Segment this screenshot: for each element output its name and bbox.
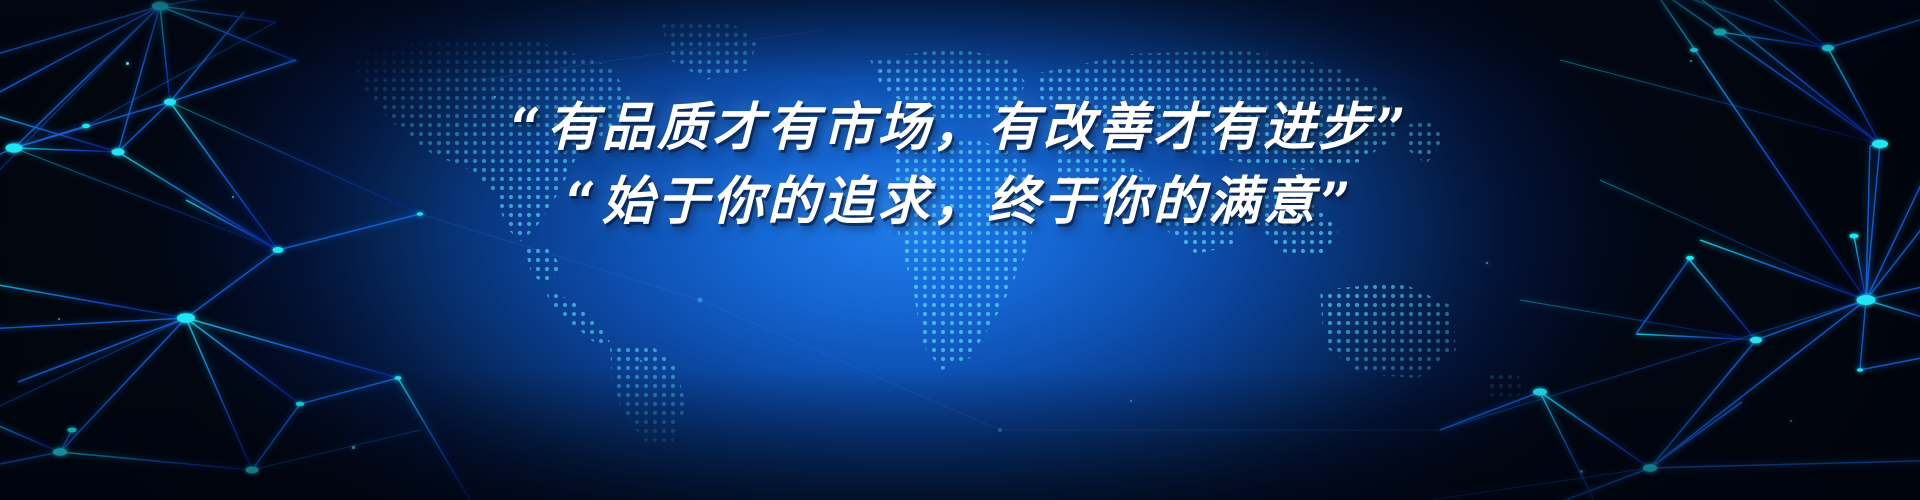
slogan-line-1: “有品质才有市场，有改善才有进步”: [0, 96, 1920, 160]
hero-banner: “有品质才有市场，有改善才有进步” “始于你的追求，终于你的满意”: [0, 0, 1920, 500]
slogan-line-2: “始于你的追求，终于你的满意”: [0, 170, 1920, 234]
open-quote-line-1: “: [508, 96, 546, 160]
close-quote-line-1: ”: [1373, 96, 1411, 160]
slogan-block: “有品质才有市场，有改善才有进步” “始于你的追求，终于你的满意”: [0, 96, 1920, 234]
slogan-line-1-text: 有品质才有市场，有改善才有进步: [547, 97, 1374, 158]
close-quote-line-2: ”: [1318, 170, 1356, 234]
background-edge-fade: [0, 0, 1920, 500]
slogan-line-2-text: 始于你的追求，终于你的满意: [602, 171, 1319, 232]
open-quote-line-2: “: [564, 170, 602, 234]
